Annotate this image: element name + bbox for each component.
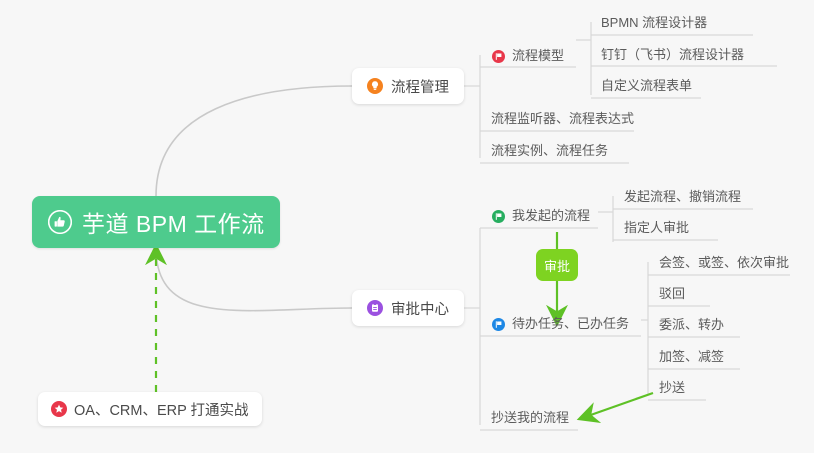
leaf-label: 会签、或签、依次审批 [659, 252, 789, 274]
flag-icon [492, 210, 505, 223]
clipboard-icon [367, 300, 383, 316]
connector-root-to-flow [156, 86, 352, 196]
leaf-reject[interactable]: 驳回 [659, 283, 685, 305]
mindmap-canvas: 芋道 BPM 工作流 流程管理 流程模型 BPMN 流程设计器 钉钉（飞书）流程… [0, 0, 814, 453]
leaf-label: 加签、减签 [659, 346, 724, 368]
leaf-label: 待办任务、已办任务 [512, 313, 629, 335]
leaf-label: 抄送 [659, 377, 685, 399]
leaf-todo-done-tasks[interactable]: 待办任务、已办任务 [492, 313, 629, 335]
root-label: 芋道 BPM 工作流 [82, 205, 265, 239]
leaf-dingtalk-designer[interactable]: 钉钉（飞书）流程设计器 [601, 44, 744, 66]
leaf-custom-form[interactable]: 自定义流程表单 [601, 75, 692, 97]
connector-root-to-approval [156, 248, 352, 311]
leaf-my-initiated[interactable]: 我发起的流程 [492, 205, 590, 227]
leaf-label: 流程实例、流程任务 [491, 140, 608, 162]
leaf-label: 流程监听器、流程表达式 [491, 108, 634, 130]
flag-icon [492, 318, 505, 331]
leaf-delegate-transfer[interactable]: 委派、转办 [659, 314, 724, 336]
bottom-note-node[interactable]: OA、CRM、ERP 打通实战 [38, 392, 262, 426]
leaf-label: 委派、转办 [659, 314, 724, 336]
leaf-countersign[interactable]: 会签、或签、依次审批 [659, 252, 789, 274]
branch-node-approval-center[interactable]: 审批中心 [352, 290, 464, 326]
star-icon [51, 401, 67, 417]
leaf-label: 流程模型 [512, 45, 564, 67]
branch-label: 审批中心 [391, 298, 449, 319]
leaf-label: 我发起的流程 [512, 205, 590, 227]
leaf-label: 驳回 [659, 283, 685, 305]
leaf-label: BPMN 流程设计器 [601, 12, 707, 34]
leaf-label: 指定人审批 [624, 217, 689, 239]
leaf-label: 自定义流程表单 [601, 75, 692, 97]
leaf-start-cancel-process[interactable]: 发起流程、撤销流程 [624, 186, 741, 208]
lightbulb-icon [367, 78, 383, 94]
leaf-label: 钉钉（飞书）流程设计器 [601, 44, 744, 66]
branch-node-flow-management[interactable]: 流程管理 [352, 68, 464, 104]
leaf-label: 抄送我的流程 [491, 407, 569, 429]
thumbs-up-icon [48, 210, 72, 234]
approval-flow-badge: 审批 [536, 249, 578, 281]
leaf-label: 发起流程、撤销流程 [624, 186, 741, 208]
flag-icon [492, 50, 505, 63]
leaf-listener-expression[interactable]: 流程监听器、流程表达式 [491, 108, 634, 130]
leaf-bpmn-designer[interactable]: BPMN 流程设计器 [601, 12, 707, 34]
bottom-note-label: OA、CRM、ERP 打通实战 [74, 399, 249, 420]
leaf-add-remove-sign[interactable]: 加签、减签 [659, 346, 724, 368]
leaf-cc[interactable]: 抄送 [659, 377, 685, 399]
badge-label: 审批 [544, 256, 570, 275]
branch-label: 流程管理 [391, 76, 449, 97]
root-node[interactable]: 芋道 BPM 工作流 [32, 196, 280, 248]
leaf-cc-to-me[interactable]: 抄送我的流程 [491, 407, 569, 429]
leaf-assigned-approver[interactable]: 指定人审批 [624, 217, 689, 239]
arrow-cc-to-ccme [585, 393, 653, 417]
leaf-instance-task[interactable]: 流程实例、流程任务 [491, 140, 608, 162]
leaf-process-model[interactable]: 流程模型 [492, 45, 564, 67]
